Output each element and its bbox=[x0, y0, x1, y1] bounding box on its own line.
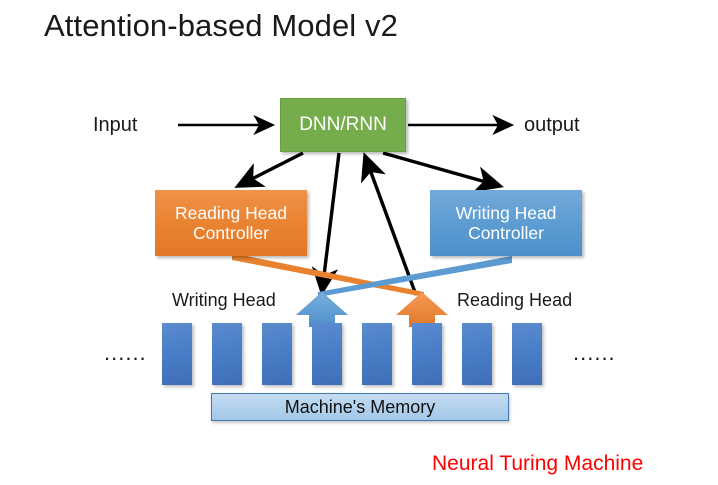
machine-memory-label: Machine's Memory bbox=[285, 397, 435, 418]
writing-head-up-arrow-icon bbox=[296, 292, 348, 327]
writing-head-controller-node[interactable]: Writing Head Controller bbox=[430, 190, 582, 256]
arrow-reading-head-to-dnn bbox=[365, 156, 416, 295]
reading-controller-line-1: Reading Head bbox=[175, 203, 287, 223]
reading-head-up-arrow-icon bbox=[396, 292, 448, 327]
memory-cell bbox=[212, 323, 242, 385]
writing-head-controller-label: Writing Head Controller bbox=[456, 203, 557, 244]
arrow-dnn-to-reading-controller bbox=[238, 153, 303, 186]
output-label: output bbox=[524, 114, 580, 137]
memory-cell bbox=[262, 323, 292, 385]
diagram-caption: Neural Turing Machine bbox=[432, 452, 643, 476]
memory-cell bbox=[312, 323, 342, 385]
memory-cell bbox=[462, 323, 492, 385]
arrow-dnn-to-writing-head bbox=[322, 153, 339, 292]
slide-canvas: Attention-based Model v2 bbox=[0, 0, 718, 485]
reading-head-controller-node[interactable]: Reading Head Controller bbox=[155, 190, 307, 256]
memory-cell bbox=[162, 323, 192, 385]
writing-controller-line-1: Writing Head bbox=[456, 203, 557, 223]
dnn-rnn-label: DNN/RNN bbox=[299, 114, 387, 136]
writing-head-label: Writing Head bbox=[172, 290, 276, 311]
dnn-rnn-node[interactable]: DNN/RNN bbox=[280, 98, 406, 152]
memory-cell bbox=[362, 323, 392, 385]
memory-cell bbox=[412, 323, 442, 385]
memory-cell bbox=[512, 323, 542, 385]
input-label: Input bbox=[93, 114, 137, 137]
ellipsis-right: ...... bbox=[573, 340, 616, 366]
reading-controller-line-2: Controller bbox=[175, 223, 287, 243]
machine-memory-bar[interactable]: Machine's Memory bbox=[211, 393, 509, 421]
ellipsis-left: ...... bbox=[104, 340, 147, 366]
writing-controller-line-2: Controller bbox=[456, 223, 557, 243]
reading-head-controller-label: Reading Head Controller bbox=[175, 203, 287, 244]
reading-head-label: Reading Head bbox=[457, 290, 572, 311]
page-title: Attention-based Model v2 bbox=[44, 8, 398, 44]
arrow-dnn-to-writing-controller bbox=[383, 153, 500, 186]
